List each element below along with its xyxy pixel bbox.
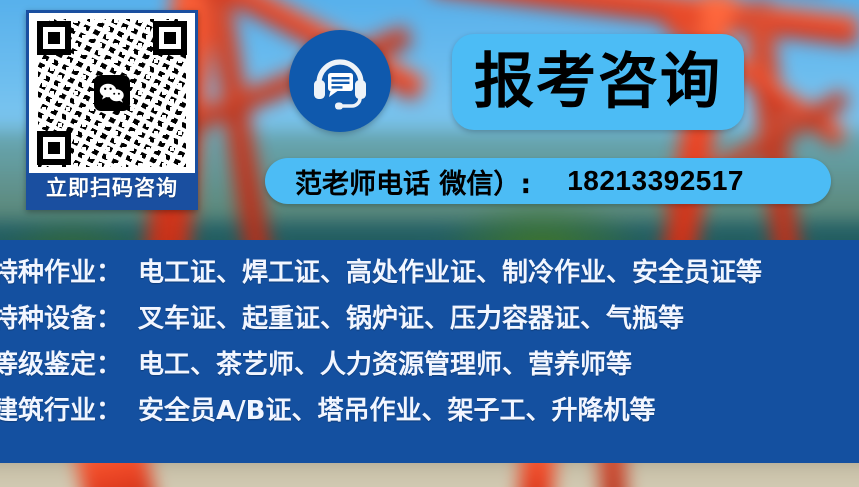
- category-items: 电工证、焊工证、高处作业证、制冷作业、安全员证等: [138, 260, 762, 286]
- category-name: 等级鉴定：: [0, 352, 122, 378]
- headset-support-icon[interactable]: [289, 30, 391, 132]
- category-name: 特种设备：: [0, 306, 122, 332]
- consult-badge-label: 报考咨询: [474, 52, 722, 112]
- contact-number[interactable]: 18213392517: [567, 165, 744, 197]
- advertisement-banner: 立即扫码咨询 报考咨询 范老师电话 微信）: 18213392517: [0, 0, 859, 487]
- qr-finder-top-left: [37, 21, 71, 55]
- contact-bar[interactable]: 范老师电话 微信）: 18213392517: [265, 158, 831, 204]
- qr-caption: 立即扫码咨询: [29, 173, 195, 207]
- wechat-icon: [94, 75, 130, 111]
- qr-code-image[interactable]: [29, 13, 195, 173]
- contact-label: 范老师电话 微信）:: [295, 162, 531, 201]
- category-row: 等级鉴定： 电工、茶艺师、人力资源管理师、营养师等: [0, 342, 859, 388]
- category-items: 叉车证、起重证、锅炉证、压力容器证、气瓶等: [138, 306, 684, 332]
- qr-finder-bottom-left: [37, 131, 71, 165]
- category-items: 电工、茶艺师、人力资源管理师、营养师等: [138, 352, 632, 378]
- category-items: 安全员A/B证、塔吊作业、架子工、升降机等: [138, 398, 655, 424]
- category-name: 建筑行业：: [0, 398, 122, 424]
- category-name: 特种作业：: [0, 260, 122, 286]
- qr-finder-top-right: [153, 21, 187, 55]
- category-row: 特种设备： 叉车证、起重证、锅炉证、压力容器证、气瓶等: [0, 296, 859, 342]
- category-row: 建筑行业： 安全员A/B证、塔吊作业、架子工、升降机等: [0, 388, 859, 434]
- category-row: 特种作业： 电工证、焊工证、高处作业证、制冷作业、安全员证等: [0, 250, 859, 296]
- consult-badge[interactable]: 报考咨询: [452, 34, 744, 130]
- course-categories-panel: 特种作业： 电工证、焊工证、高处作业证、制冷作业、安全员证等 特种设备： 叉车证…: [0, 240, 859, 463]
- qr-code-card[interactable]: 立即扫码咨询: [26, 10, 198, 210]
